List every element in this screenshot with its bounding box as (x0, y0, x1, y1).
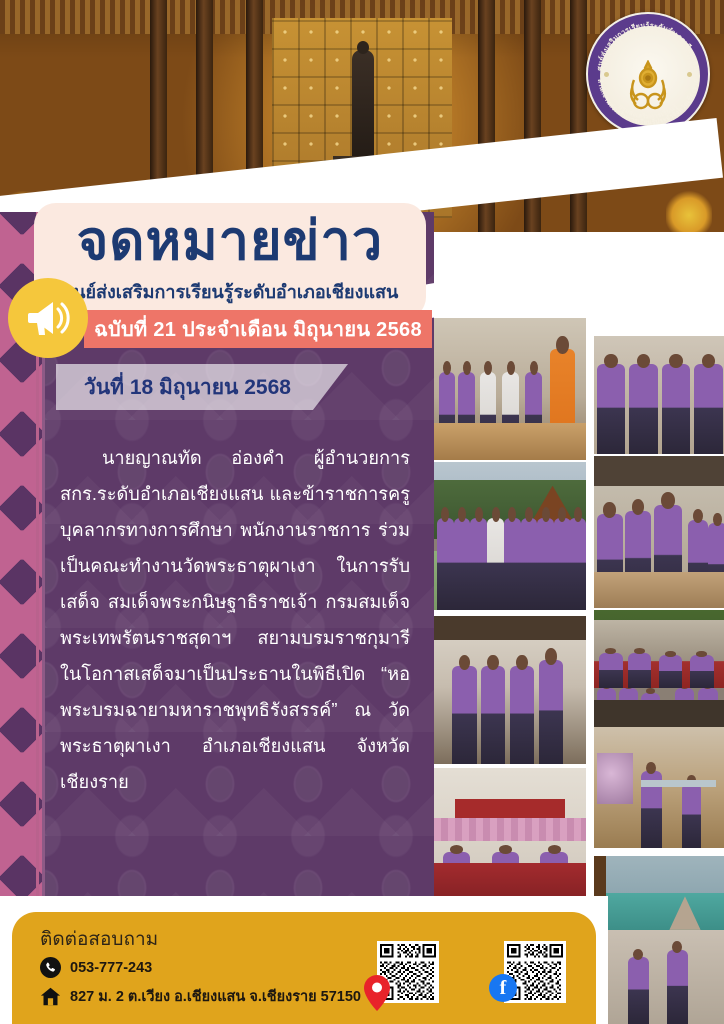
phone-icon (40, 957, 61, 978)
photo-conference-table (434, 768, 586, 908)
photo-purple-uniform-row (594, 336, 724, 454)
facebook-icon: f (489, 974, 517, 1002)
address-text: 827 ม. 2 ต.เวียง อ.เชียงแสน จ.เชียงราย 5… (70, 985, 361, 1008)
footer-contact-bar: ติดต่อสอบถาม 053-777-243 827 ม. 2 ต.เวีย… (12, 912, 596, 1024)
phone-number: 053-777-243 (70, 960, 152, 976)
issue-label: ฉบับที่ 21 ประจำเดือน มิถุนายน 2568 (94, 313, 422, 345)
photo-indoor-group (434, 616, 586, 764)
contact-title: ติดต่อสอบถาม (40, 924, 158, 954)
photo-table-setup (594, 700, 724, 848)
photo-carrying-chairs (594, 856, 724, 1024)
photo-seated-on-mat (594, 620, 724, 688)
page-title: จดหมายข่าว (34, 213, 426, 270)
megaphone-icon (8, 278, 88, 358)
photo-group-temple (434, 462, 586, 610)
issue-band: ฉบับที่ 21 ประจำเดือน มิถุนายน 2568 (84, 310, 432, 348)
photo-officials-monk (434, 318, 586, 460)
contact-phone-row: 053-777-243 (40, 957, 152, 978)
home-icon (40, 986, 61, 1007)
article-body: นายญาณทัด อ่องคำ ผู้อำนวยการ สกร.ระดับอำ… (60, 440, 410, 800)
newsletter-poster: วันที่ 18 มิถุนายน 2568 นายญาณทัด อ่องคำ… (0, 0, 724, 1024)
contact-address-row: 827 ม. 2 ต.เวียง อ.เชียงแสน จ.เชียงราย 5… (40, 985, 361, 1008)
location-pin-icon (362, 974, 392, 1012)
article-date: วันที่ 18 มิถุนายน 2568 (84, 371, 291, 404)
page-subtitle: ศูนย์ส่งเสริมการเรียนรู้ระดับอำเภอเชียงแ… (34, 277, 426, 306)
date-ribbon: วันที่ 18 มิถุนายน 2568 (56, 364, 348, 410)
photo-offering-table (594, 456, 724, 608)
title-card: จดหมายข่าว ศูนย์ส่งเสริมการเรียนรู้ระดับ… (34, 203, 426, 319)
